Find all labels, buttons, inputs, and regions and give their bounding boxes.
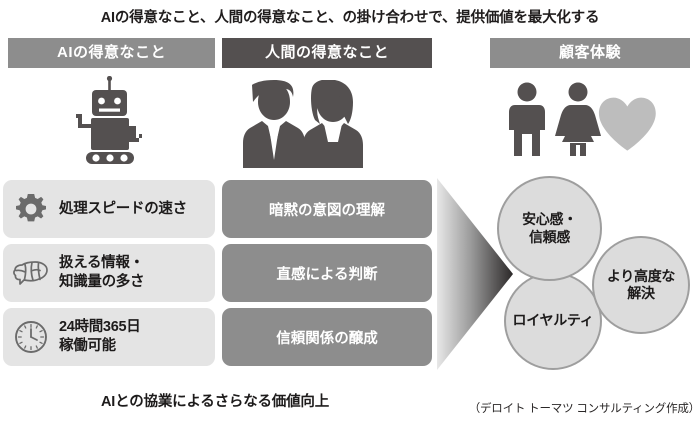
outcome-advanced-line1: より高度な: [607, 268, 675, 286]
outcome-advanced-line2: 解決: [607, 285, 675, 303]
footer-source: （デロイト トーマツ コンサルティング作成）: [420, 400, 700, 416]
businessman-icon: [243, 80, 305, 168]
outcome-circle-trust: 安心感・ 信頼感: [497, 176, 602, 281]
ai-card-speed-label: 処理スピードの速さ: [59, 200, 215, 219]
male-figure-icon: [509, 83, 545, 157]
human-card-intuition: 直感による判断: [222, 244, 432, 302]
heart-icon: [599, 98, 656, 151]
page-title: AIの得意なこと、人間の得意なこと、の掛け合わせで、提供価値を最大化する: [0, 6, 700, 27]
brain-icon: [3, 259, 59, 287]
outcome-circle-advanced: より高度な 解決: [592, 236, 690, 334]
footer-caption: AIとの協業によるさらなる価値向上: [0, 390, 430, 411]
ai-card-uptime-line2: 稼働可能: [59, 337, 215, 356]
human-icons-group: [238, 80, 368, 168]
ai-card-uptime-label: 24時間365日 稼働可能: [59, 318, 215, 355]
outcome-circle-loyalty: ロイヤルティ: [504, 272, 602, 370]
ai-card-knowledge-line1: 扱える情報・: [59, 254, 215, 273]
human-card-intent: 暗黙の意図の理解: [222, 180, 432, 238]
column-header-human: 人間の得意なこと: [222, 38, 432, 68]
outcome-loyalty-line1: ロイヤルティ: [513, 312, 594, 330]
ai-card-knowledge-line2: 知識量の多さ: [59, 273, 215, 292]
column-header-ai: AIの得意なこと: [8, 38, 215, 68]
ai-card-uptime-line1: 24時間365日: [59, 318, 215, 337]
clock-icon: [3, 320, 59, 354]
ai-card-speed: 処理スピードの速さ: [3, 180, 215, 238]
ai-card-knowledge-label: 扱える情報・ 知識量の多さ: [59, 254, 215, 291]
cx-icons-group: [505, 82, 660, 158]
robot-icon: [62, 76, 158, 168]
businesswoman-icon: [303, 80, 363, 168]
human-card-trust: 信頼関係の醸成: [222, 308, 432, 366]
female-figure-icon: [555, 83, 601, 157]
outcome-trust-line1: 安心感・: [522, 211, 577, 229]
infographic-canvas: AIの得意なこと、人間の得意なこと、の掛け合わせで、提供価値を最大化する AIの…: [0, 0, 700, 429]
gear-icon: [3, 194, 59, 224]
ai-card-knowledge: 扱える情報・ 知識量の多さ: [3, 244, 215, 302]
outcome-trust-line2: 信頼感: [522, 229, 577, 247]
ai-card-uptime: 24時間365日 稼働可能: [3, 308, 215, 366]
column-header-cx: 顧客体験: [490, 38, 690, 68]
